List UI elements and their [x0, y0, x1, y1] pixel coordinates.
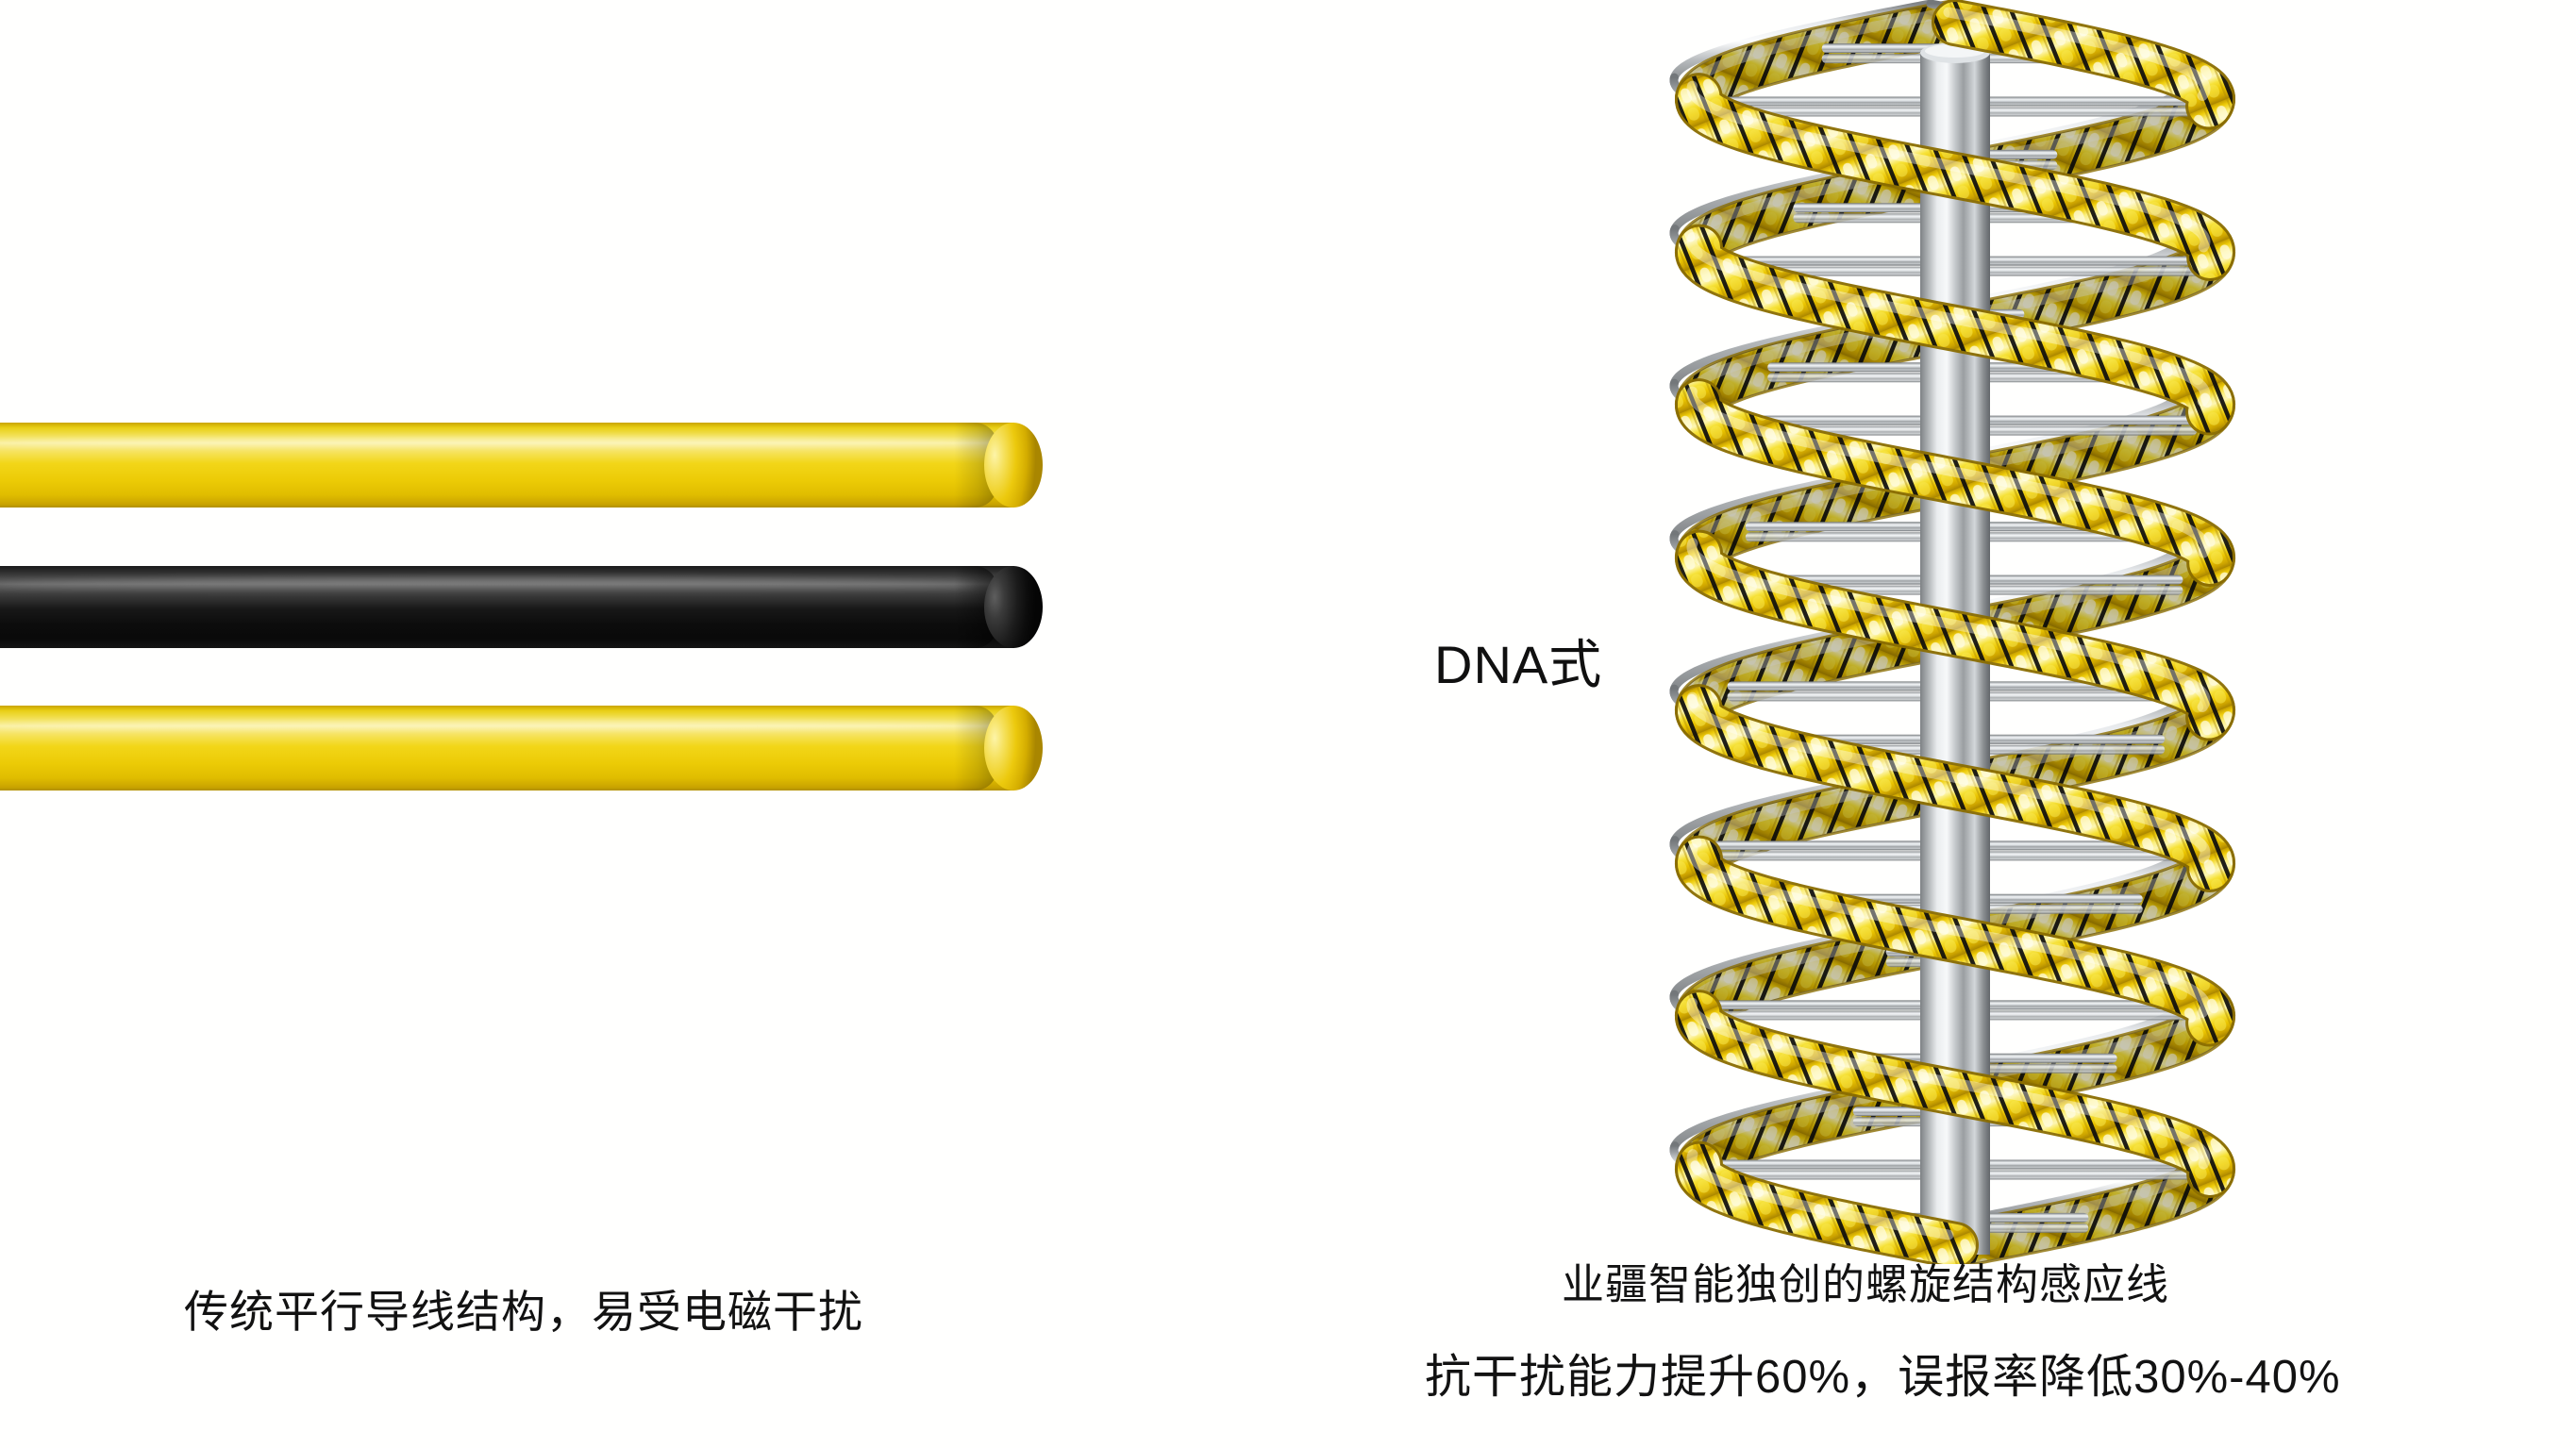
cable-end-cap	[984, 566, 1043, 648]
cable-end-cap	[984, 706, 1043, 791]
dna-type-label: DNA式	[1434, 623, 1602, 699]
dna-helix-illustration	[1661, 0, 2246, 1264]
traditional-parallel-wire-illustration	[0, 0, 1057, 849]
middle-black-cable	[0, 566, 1014, 648]
right-caption-line-1: 业疆智能独创的螺旋结构感应线	[1562, 1250, 2169, 1311]
cable-end-cap	[984, 423, 1043, 508]
helix-depth-shade	[1698, 23, 1955, 107]
cable-body	[0, 706, 1014, 791]
cable-gloss-highlight	[0, 721, 977, 732]
lower-yellow-cable	[0, 706, 1014, 791]
cable-body	[0, 423, 1014, 508]
cable-gloss-highlight	[0, 578, 977, 591]
upper-yellow-cable	[0, 423, 1014, 508]
dna-scene	[1674, 4, 2212, 1255]
right-caption-line-2: 抗干扰能力提升60%，误报率降低30%-40%	[1425, 1340, 2341, 1406]
cable-gloss-highlight	[0, 438, 977, 449]
left-caption: 传统平行导线结构，易受电磁干扰	[184, 1275, 863, 1340]
slide-canvas: DNA式 传统平行导线结构，易受电磁干扰 业疆智能独创的螺旋结构感应线 抗干扰能…	[0, 0, 2576, 1448]
